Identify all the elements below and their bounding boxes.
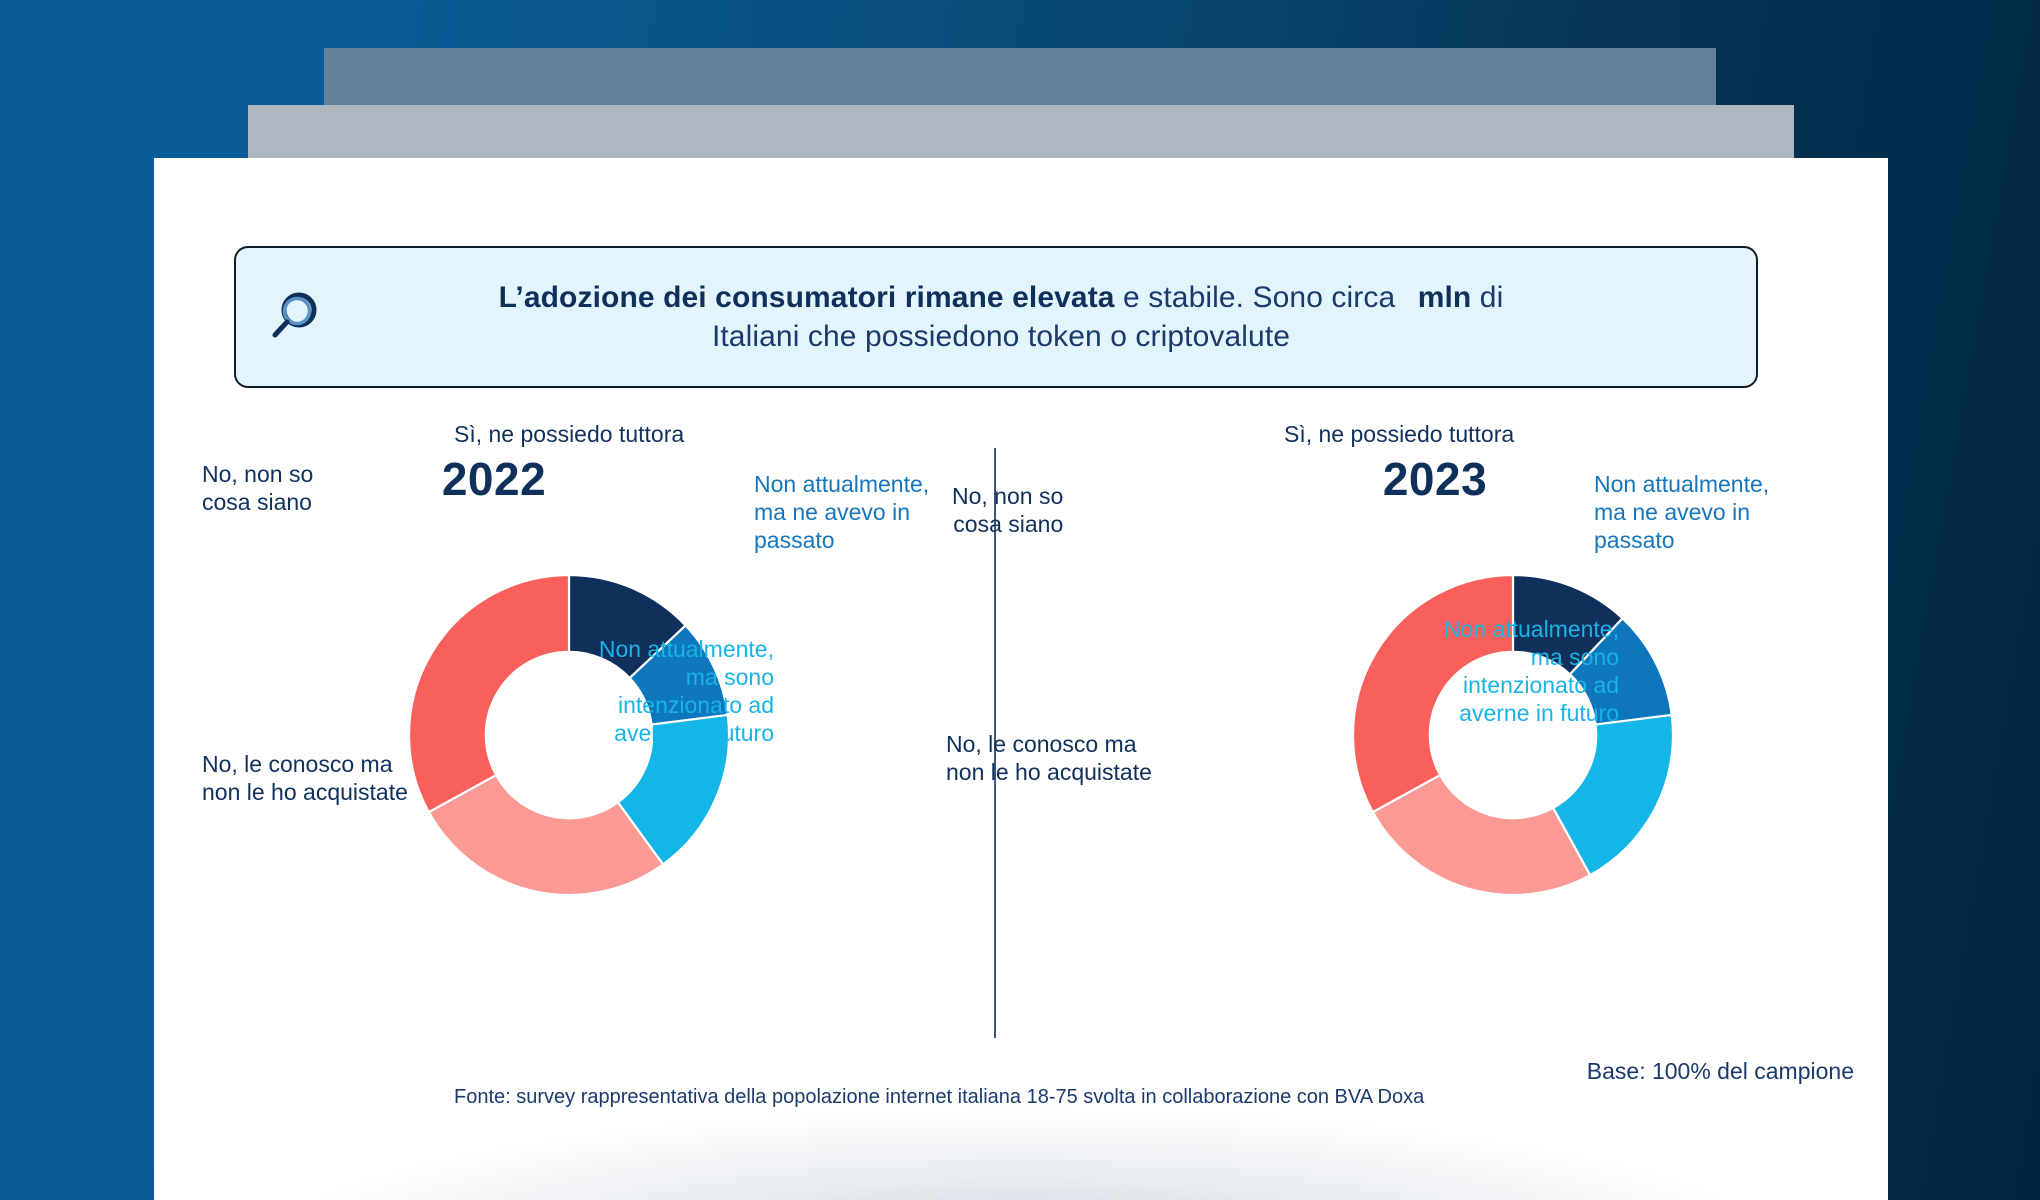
label-2023-future: Non attualmente, ma sono intenzionato ad… (1404, 615, 1619, 727)
donut-segment (409, 575, 569, 812)
magnifier-icon (236, 288, 356, 346)
charts-area: 2022 Sì, ne possiedo tuttora Non attualm… (154, 430, 1888, 1030)
label-2022-acquistate: No, le conosco ma non le ho acquistate (202, 750, 408, 806)
chart-panel-2023: 2023 Sì, ne possiedo tuttora Non attualm… (1014, 430, 1874, 1030)
label-2023-si: Sì, ne possiedo tuttora (1284, 420, 1514, 448)
headline-plain-2: di (1471, 281, 1503, 314)
label-2022-future: Non attualmente, ma sono intenzionato ad… (564, 635, 774, 747)
chart-panel-2022: 2022 Sì, ne possiedo tuttora Non attualm… (174, 430, 1034, 1030)
headline-bold-1: L’adozione dei consumatori rimane elevat… (499, 281, 1115, 314)
label-2023-past: Non attualmente, ma ne avevo in passato (1594, 470, 1769, 554)
headline-callout: L’adozione dei consumatori rimane elevat… (234, 246, 1758, 388)
source-note: Fonte: survey rappresentativa della popo… (454, 1086, 1424, 1109)
headline-text: L’adozione dei consumatori rimane elevat… (356, 278, 1756, 356)
label-2022-nonso: No, non so cosa siano (202, 460, 313, 516)
label-2022-si: Sì, ne possiedo tuttora (454, 420, 684, 448)
label-2023-nonso: No, non so cosa siano (952, 482, 1063, 538)
slide-canvas: L’adozione dei consumatori rimane elevat… (0, 0, 2040, 1200)
label-2023-acquistate: No, le conosco ma non le ho acquistate (946, 730, 1152, 786)
headline-line-2: Italiani che possiedono token o criptova… (712, 320, 1290, 353)
base-note: Base: 100% del campione (1587, 1058, 1854, 1085)
headline-bold-2: mln (1418, 281, 1472, 314)
label-2022-past: Non attualmente, ma ne avevo in passato (754, 470, 929, 554)
headline-plain-1: e stabile. Sono circa (1115, 281, 1404, 314)
